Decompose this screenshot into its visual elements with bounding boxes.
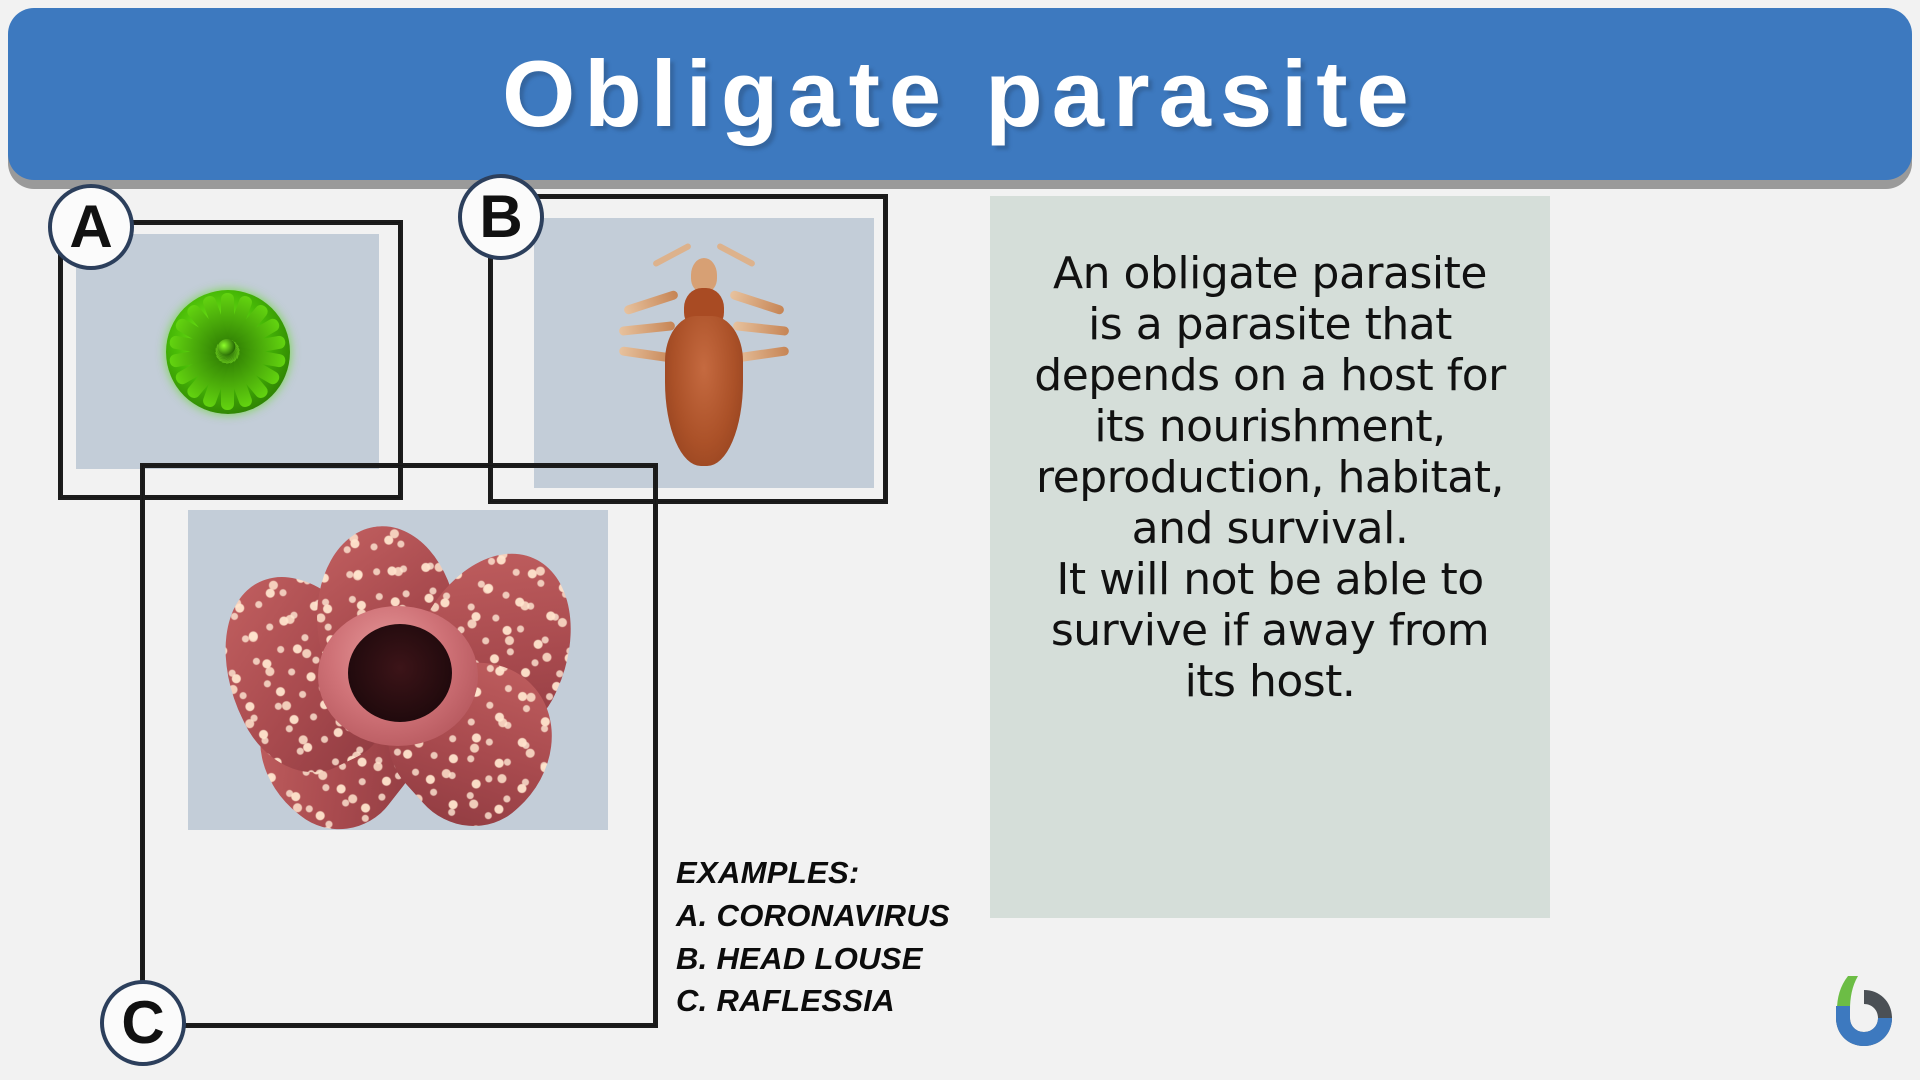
louse-leg <box>733 321 790 336</box>
photo-coronavirus <box>76 234 379 469</box>
head-louse-icon <box>629 238 779 468</box>
badge-b: B <box>458 174 544 260</box>
definition-line: depends on a host for <box>1006 350 1534 401</box>
louse-antenna-right <box>716 242 756 267</box>
brand-logo <box>1828 972 1900 1052</box>
definition-line: reproduction, habitat, <box>1006 452 1534 503</box>
louse-abdomen <box>665 316 743 466</box>
page-title: Obligate parasite <box>502 47 1418 141</box>
badge-c: C <box>100 980 186 1066</box>
definition-line: its host. <box>1006 656 1534 707</box>
definition-line: An obligate parasite <box>1006 248 1534 299</box>
definition-line: is a parasite that <box>1006 299 1534 350</box>
definition-text: An obligate parasite is a parasite that … <box>990 196 1550 707</box>
photo-head-louse <box>534 218 874 488</box>
definition-line: It will not be able to <box>1006 554 1534 605</box>
louse-head <box>691 258 717 292</box>
header-bar: Obligate parasite <box>8 8 1912 180</box>
definition-line: its nourishment, <box>1006 401 1534 452</box>
example-item-c: C. RAFLESSIA <box>676 980 1006 1023</box>
example-item-b: B. HEAD LOUSE <box>676 938 1006 981</box>
examples-list: EXAMPLES: A. CORONAVIRUS B. HEAD LOUSE C… <box>676 852 1006 1023</box>
photo-rafflesia <box>188 510 608 830</box>
badge-a: A <box>48 184 134 270</box>
definition-panel: An obligate parasite is a parasite that … <box>990 196 1550 918</box>
rafflesia-icon <box>198 520 598 820</box>
definition-line: and survival. <box>1006 503 1534 554</box>
rafflesia-center-hole <box>348 624 452 722</box>
definition-line: survive if away from <box>1006 605 1534 656</box>
examples-heading: EXAMPLES: <box>676 852 1006 895</box>
louse-leg <box>623 290 679 316</box>
louse-antenna-left <box>652 242 692 267</box>
example-item-a: A. CORONAVIRUS <box>676 895 1006 938</box>
louse-leg <box>729 290 785 316</box>
coronavirus-icon <box>166 290 290 414</box>
louse-leg <box>619 321 676 336</box>
header-banner: Obligate parasite <box>8 8 1912 183</box>
